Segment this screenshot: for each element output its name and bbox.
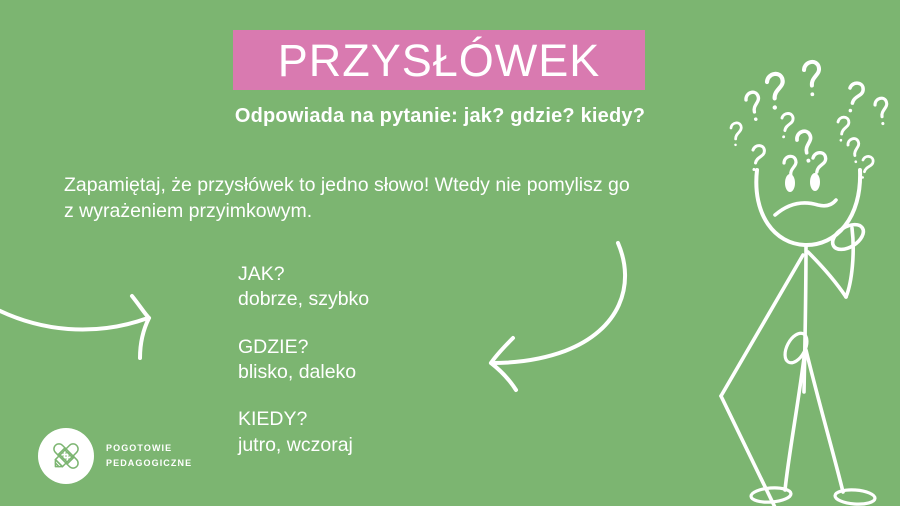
character-eye-right: [810, 173, 820, 191]
character-body: [721, 228, 875, 506]
character-head: [756, 170, 860, 245]
crossed-bandages-pencil-icon: [38, 428, 94, 484]
list-item: KIEDY? jutro, wczoraj: [238, 407, 538, 458]
character-hand: [828, 220, 867, 255]
list-item: GDZIE? blisko, daleko: [238, 335, 538, 386]
subtitle: Odpowiada na pytanie: jak? gdzie? kiedy?: [0, 105, 880, 128]
curved-arrow-right-icon: [0, 296, 149, 358]
slide-canvas: PRZYSŁÓWEK Odpowiada na pytanie: jak? gd…: [0, 0, 900, 506]
brand-name: POGOTOWIE PEDAGOGICZNE: [106, 441, 192, 471]
body-paragraph: Zapamiętaj, że przysłówek to jedno słowo…: [64, 172, 644, 224]
character-foot-right: [835, 489, 876, 506]
brand-name-line2: PEDAGOGICZNE: [106, 456, 192, 471]
character-foot-left: [751, 487, 792, 504]
qa-question: KIEDY?: [238, 407, 538, 432]
qa-question: JAK?: [238, 262, 538, 287]
brand-name-line1: POGOTOWIE: [106, 441, 192, 456]
qa-question: GDZIE?: [238, 335, 538, 360]
qa-answer: blisko, daleko: [238, 360, 538, 385]
qa-answer: jutro, wczoraj: [238, 433, 538, 458]
qa-list: JAK? dobrze, szybko GDZIE? blisko, dalek…: [238, 262, 538, 458]
character-eye-left: [785, 174, 795, 192]
list-item: JAK? dobrze, szybko: [238, 262, 538, 313]
qa-answer: dobrze, szybko: [238, 287, 538, 312]
page-title: PRZYSŁÓWEK: [278, 38, 601, 83]
character-mouth: [775, 200, 836, 215]
brand-logo: POGOTOWIE PEDAGOGICZNE: [38, 428, 192, 484]
title-band: PRZYSŁÓWEK: [233, 30, 645, 90]
